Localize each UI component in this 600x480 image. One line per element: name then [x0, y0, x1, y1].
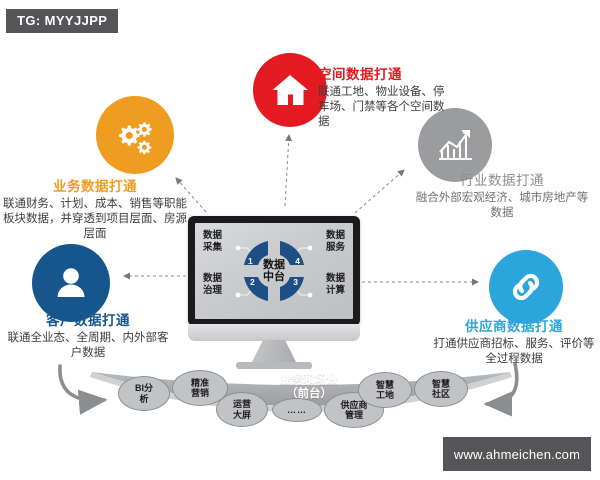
label-supplier: 供应商数据打通 打通供应商招标、服务、评价等全过程数据	[428, 318, 600, 367]
data-hub: 数据 中台 1 2 3 4	[235, 232, 313, 310]
label-industry-title: 行业数据打通	[412, 172, 592, 189]
pill-smart-construction-label: 智慧工地	[376, 380, 394, 400]
screen-label-collect: 数据 采集	[203, 230, 222, 253]
label-customer-title: 客户数据打通	[2, 312, 174, 329]
pill-ellipsis[interactable]: ……	[272, 398, 322, 422]
gears-icon	[96, 96, 174, 174]
pill-smart-community[interactable]: 智慧社区	[414, 371, 468, 407]
label-industry-body: 融合外部宏观经济、城市房地产等数据	[412, 191, 592, 220]
home-icon	[253, 53, 327, 127]
chain-link-icon	[489, 250, 563, 324]
hub-quadrant-4: 4	[295, 256, 300, 266]
monitor-illustration: 数据 采集 数据 治理 数据 服务 数据 计算 数据	[188, 216, 360, 336]
screen-label-service: 数据 服务	[326, 230, 345, 253]
label-supplier-body: 打通供应商招标、服务、评价等全过程数据	[428, 337, 600, 366]
pill-operations-dashboard[interactable]: 运营大屏	[216, 392, 268, 427]
hub-quadrant-1: 1	[248, 256, 253, 266]
label-space-title: 空间数据打通	[318, 66, 450, 83]
pill-bi-analysis[interactable]: BI分析	[118, 376, 170, 411]
label-customer-body: 联通全业态、全周期、内外部客户数据	[2, 331, 174, 360]
screen-label-governance: 数据 治理	[203, 273, 222, 296]
hub-quadrant-3: 3	[293, 277, 298, 287]
infographic-canvas: 业务数据打通 联通财务、计划、成本、销售等职能板块数据，并穿透到项目层面、房源层…	[0, 0, 600, 480]
screen-label-compute: 数据 计算	[326, 273, 345, 296]
label-customer: 客户数据打通 联通全业态、全周期、内外部客户数据	[2, 312, 174, 361]
pill-bi-analysis-label: BI分析	[135, 383, 153, 403]
label-business-title: 业务数据打通	[0, 178, 190, 195]
label-space: 空间数据打通 联通工地、物业设备、停车场、门禁等各个空间数据	[318, 66, 450, 129]
pill-smart-community-label: 智慧社区	[432, 379, 450, 399]
label-business-body: 联通财务、计划、成本、销售等职能板块数据，并穿透到项目层面、房源层面	[0, 197, 190, 241]
label-supplier-title: 供应商数据打通	[428, 318, 600, 335]
pill-ellipsis-label: ……	[287, 405, 307, 415]
hub-center-label: 数据 中台	[235, 232, 313, 310]
label-space-body: 联通工地、物业设备、停车场、门禁等各个空间数据	[318, 85, 450, 129]
monitor-screen: 数据 采集 数据 治理 数据 服务 数据 计算 数据	[195, 223, 353, 319]
monitor-neck	[188, 324, 360, 341]
pill-smart-construction[interactable]: 智慧工地	[358, 372, 412, 408]
pill-supplier-management-label: 供应商管理	[340, 400, 367, 420]
label-industry: 行业数据打通 融合外部宏观经济、城市房地产等数据	[412, 172, 592, 221]
monitor-base	[236, 362, 312, 369]
site-watermark-badge: www.ahmeichen.com	[443, 437, 591, 471]
hub-quadrant-2: 2	[250, 277, 255, 287]
pill-precision-marketing-label: 精准营销	[191, 378, 209, 398]
telegram-tag-badge: TG: MYYJJPP	[6, 9, 118, 33]
monitor-bezel: 数据 采集 数据 治理 数据 服务 数据 计算 数据	[188, 216, 360, 326]
label-business: 业务数据打通 联通财务、计划、成本、销售等职能板块数据，并穿透到项目层面、房源层…	[0, 178, 190, 241]
pill-operations-dashboard-label: 运营大屏	[233, 399, 251, 419]
person-icon	[32, 244, 110, 322]
